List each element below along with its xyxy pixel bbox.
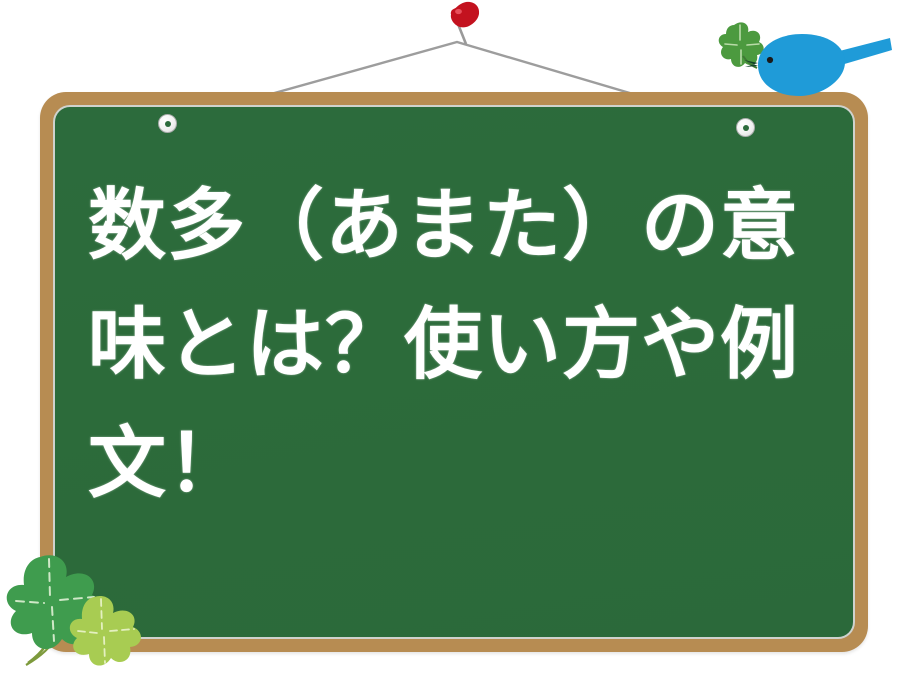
eyelet-right bbox=[736, 118, 755, 137]
clover-cluster-bottom-left bbox=[0, 545, 174, 674]
bird-body bbox=[758, 34, 845, 96]
four-leaf-clover-icon bbox=[719, 22, 764, 68]
image-canvas: 数多（あまた）の意味とは？使い方や例文！ bbox=[0, 0, 900, 674]
bird-eye bbox=[767, 57, 773, 63]
chalkboard-title: 数多（あまた）の意味とは？使い方や例文！ bbox=[88, 166, 848, 523]
pushpin-highlight bbox=[455, 9, 462, 14]
eyelet-left bbox=[158, 114, 177, 133]
pushpin-icon bbox=[436, 0, 488, 48]
bird-icon bbox=[700, 8, 900, 108]
